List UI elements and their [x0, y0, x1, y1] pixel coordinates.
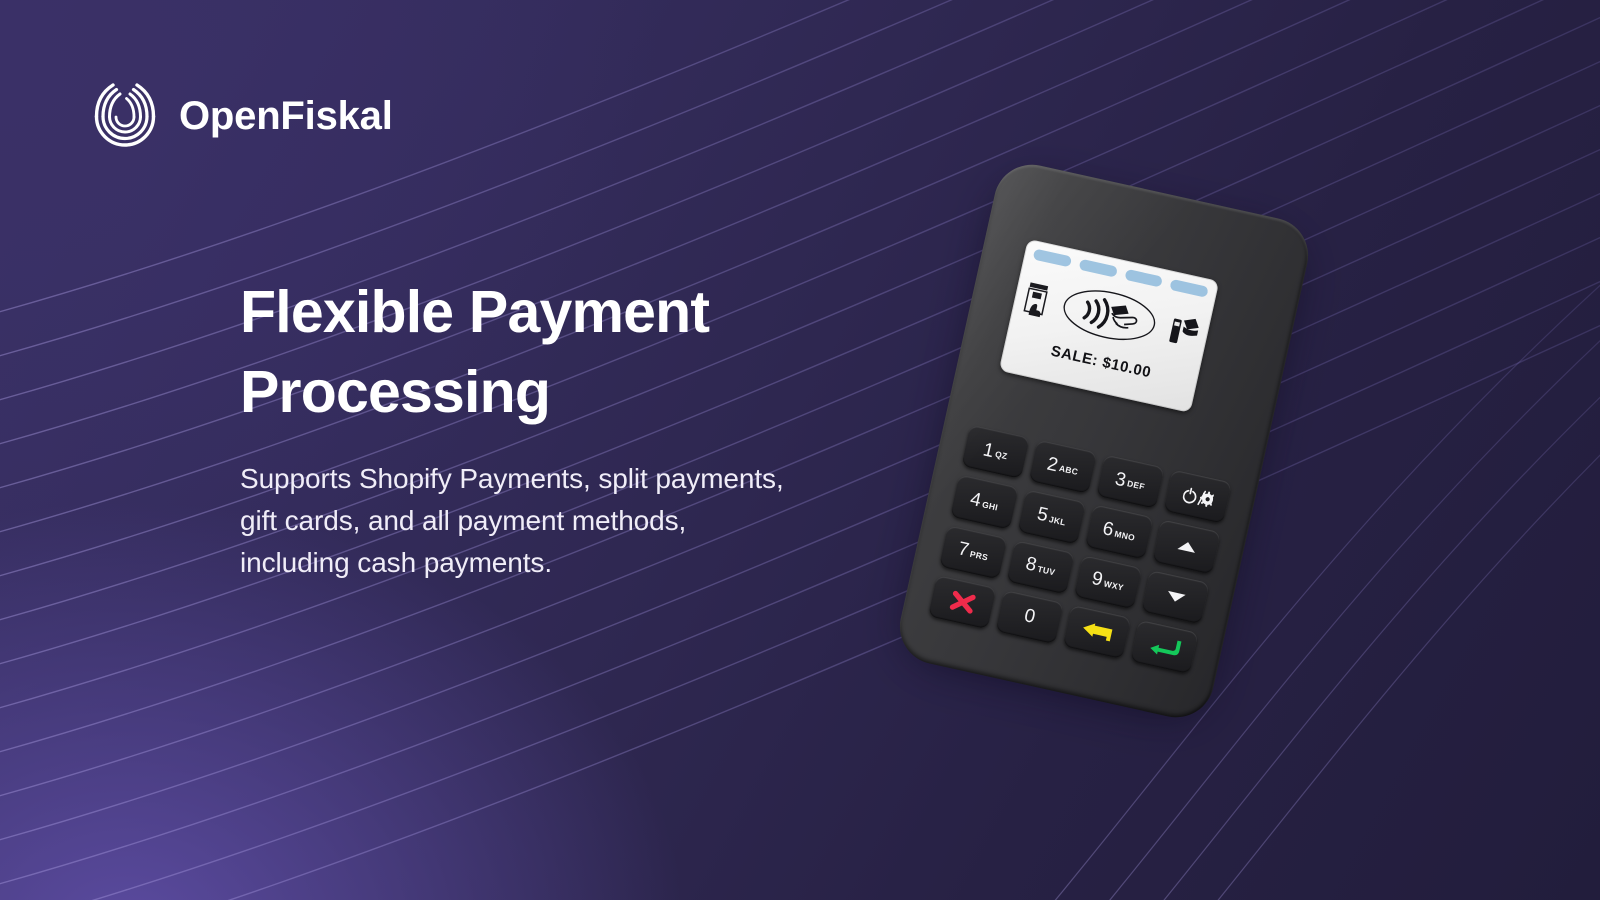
hero-copy: Flexible Payment Processing Supports Sho… [240, 272, 940, 584]
brand-logo-lockup[interactable]: OpenFiskal [88, 76, 393, 156]
headline-line-1: Flexible Payment [240, 279, 709, 345]
key-scroll-down[interactable] [1141, 570, 1210, 624]
terminal-screen: SALE: $10.00 [999, 239, 1220, 413]
key-digit-label: 0 [1022, 607, 1036, 628]
key-letters-label: GHI [981, 500, 998, 512]
hero-banner: OpenFiskal Flexible Payment Processing S… [0, 0, 1600, 900]
key-letters-label: QZ [994, 450, 1008, 461]
headline-line-2: Processing [240, 359, 550, 425]
description-line-1: Supports Shopify Payments, split payment… [240, 458, 940, 500]
key-letters-label: ABC [1058, 464, 1079, 476]
key-enter[interactable] [1130, 620, 1199, 674]
key-cancel[interactable] [928, 575, 997, 629]
key-3[interactable]: 3DEF [1096, 455, 1165, 509]
key-letters-label: PRS [969, 550, 989, 562]
description-line-2: gift cards, and all payment methods, [240, 500, 940, 542]
card-insert-icon [1020, 280, 1053, 319]
arrow-up-icon [1175, 539, 1199, 555]
contactless-nfc-tap-icon [1057, 280, 1162, 350]
hero-description: Supports Shopify Payments, split payment… [240, 458, 940, 584]
indicator-bar [1124, 269, 1163, 288]
indicator-bar [1033, 249, 1072, 268]
key-power-settings[interactable] [1163, 469, 1232, 523]
key-2[interactable]: 2ABC [1029, 440, 1098, 494]
indicator-bar [1170, 279, 1209, 298]
key-6[interactable]: 6MNO [1085, 505, 1154, 559]
brand-name: OpenFiskal [179, 96, 393, 136]
key-letters-label: TUV [1037, 565, 1056, 577]
card-swipe-icon [1166, 312, 1203, 352]
key-letters-label: MNO [1114, 529, 1136, 542]
key-letters-label: JKL [1048, 515, 1066, 527]
page-title: Flexible Payment Processing [240, 272, 940, 432]
openfiskal-logo-icon [88, 76, 162, 156]
key-8[interactable]: 8TUV [1006, 540, 1075, 594]
key-5[interactable]: 5JKL [1017, 490, 1086, 544]
key-4[interactable]: 4GHI [950, 475, 1019, 529]
terminal-keypad[interactable]: 1QZ2ABC3DEF4GHI5JKL6MNO7PRS8TUV9WXY0 [928, 425, 1232, 674]
backspace-arrow-icon [1078, 619, 1115, 644]
key-letters-label: DEF [1126, 479, 1145, 491]
cancel-x-icon [947, 588, 977, 615]
key-backspace[interactable] [1063, 605, 1132, 659]
key-7[interactable]: 7PRS [939, 525, 1008, 579]
key-0[interactable]: 0 [995, 590, 1064, 644]
arrow-down-icon [1163, 589, 1187, 605]
power-gear-icon [1181, 485, 1214, 508]
description-line-3: including cash payments. [240, 542, 940, 584]
enter-arrow-icon [1147, 634, 1183, 660]
key-9[interactable]: 9WXY [1074, 555, 1143, 609]
key-letters-label: WXY [1103, 579, 1125, 592]
key-scroll-up[interactable] [1152, 520, 1221, 574]
key-1[interactable]: 1QZ [961, 425, 1030, 479]
indicator-bar [1078, 259, 1117, 278]
